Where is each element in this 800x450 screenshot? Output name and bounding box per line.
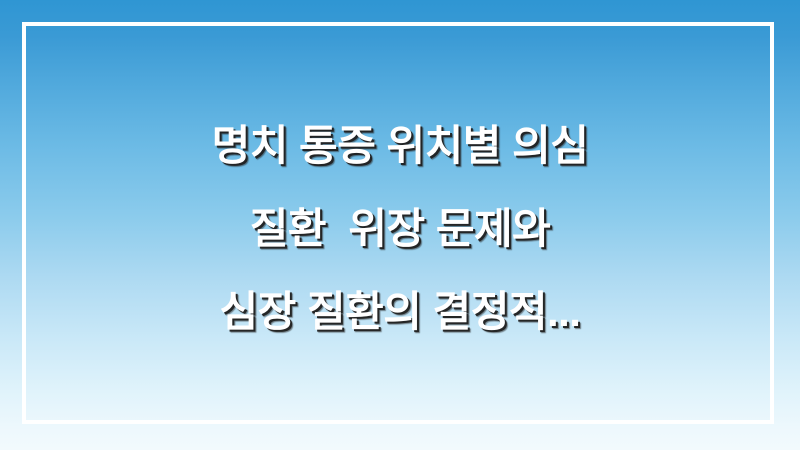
title-block: 명치 통증 위치별 의심 질환 위장 문제와 심장 질환의 결정적... [0, 104, 800, 353]
title-line-3: 심장 질환의 결정적... [220, 270, 581, 353]
title-line-1: 명치 통증 위치별 의심 [212, 104, 589, 187]
title-line-2: 질환 위장 문제와 [250, 187, 551, 270]
title-card: 명치 통증 위치별 의심 질환 위장 문제와 심장 질환의 결정적... [0, 0, 800, 450]
